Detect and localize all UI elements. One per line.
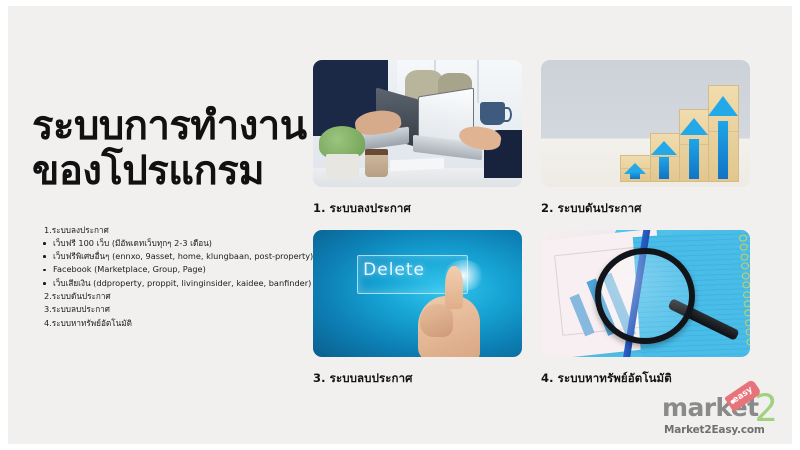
card-caption: 2. ระบบดันประกาศ — [541, 200, 750, 218]
list-item: เว็บฟรีพิเศษอื่นๆ (ennxo, 9asset, home, … — [40, 250, 322, 263]
coffee-mug — [480, 102, 505, 125]
up-arrow-icon — [650, 141, 679, 179]
list-item: เว็บเสียเงิน (ddproperty, proppit, livin… — [40, 277, 322, 290]
page-title: ระบบการทำงาน ของโปรแกรม — [32, 104, 322, 194]
pointing-finger — [445, 266, 464, 309]
up-arrow-icon — [620, 163, 649, 180]
left-content-column: ระบบการทำงาน ของโปรแกรม 1.ระบบลงประกาศ เ… — [22, 104, 322, 330]
card-caption: 1. ระบบลงประกาศ — [313, 200, 522, 218]
feature-list: 1.ระบบลงประกาศ เว็บฟรี 100 เว็บ (มีอัพเด… — [40, 224, 322, 330]
list-item: เว็บฟรี 100 เว็บ (มีอัพเดทเว็บทุกๆ 2-3 เ… — [40, 237, 322, 250]
delete-button-press-photo: Delete — [313, 230, 522, 357]
slide-canvas: ระบบการทำงาน ของโปรแกรม 1.ระบบลงประกาศ เ… — [8, 6, 792, 444]
market2easy-logo: market 2 easy Market2Easy.com — [662, 386, 778, 438]
list-item: 4.ระบบหาทรัพย์อัตโนมัติ — [44, 317, 322, 330]
feature-card-2: 2. ระบบดันประกาศ — [541, 60, 750, 218]
feature-card-3: Delete 3. ระบบลบประกาศ — [313, 230, 522, 388]
list-item: 2.ระบบดันประกาศ — [44, 290, 322, 303]
up-arrow-icon — [679, 118, 708, 179]
notebook-spiral — [739, 231, 750, 349]
list-item: Facebook (Marketplace, Group, Page) — [40, 263, 322, 276]
feature-card-grid: 1. ระบบลงประกาศ 2. ระบบดันประกาศ Delete — [313, 60, 761, 376]
list-item: 1.ระบบลงประกาศ — [44, 224, 322, 237]
logo-domain-text: Market2Easy.com — [664, 424, 765, 436]
ascending-blocks-arrows-photo — [541, 60, 750, 187]
up-arrow-icon — [708, 96, 737, 180]
card-caption: 3. ระบบลบประกาศ — [313, 370, 522, 388]
paper-coffee-cup — [365, 149, 388, 177]
feature-card-1: 1. ระบบลงประกาศ — [313, 60, 522, 218]
magnifying-glass-chart-photo — [541, 230, 750, 357]
potted-plant-pot — [326, 154, 359, 179]
feature-card-4: 4. ระบบหาทรัพย์อัตโนมัติ — [541, 230, 750, 388]
window-mullion — [477, 60, 479, 103]
office-desk-laptops-photo — [313, 60, 522, 187]
list-item: 3.ระบบลบประกาศ — [44, 303, 322, 316]
magnifier-lens — [595, 248, 695, 344]
